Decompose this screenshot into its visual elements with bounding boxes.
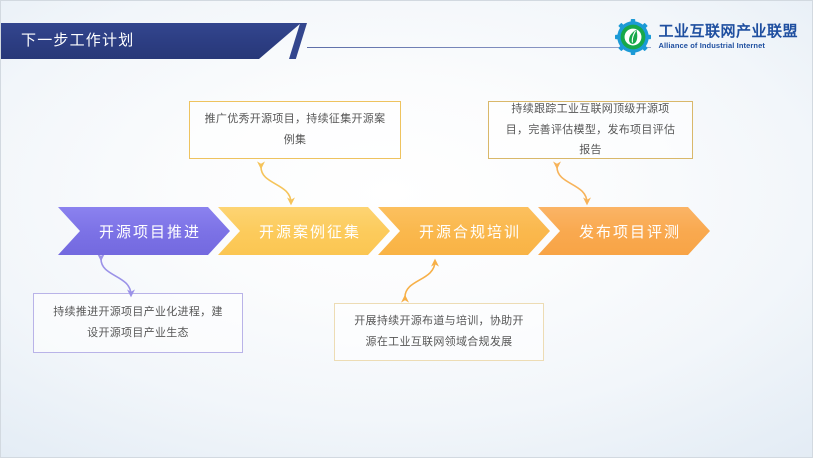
callout-compliance-training: 开展持续开源布道与培训，协助开源在工业互联网领域合规发展 (334, 303, 544, 361)
callout-open-source-cases: 推广优秀开源项目，持续征集开源案例集 (189, 101, 401, 159)
process-step-compliance-training[interactable]: 开源合规培训 (378, 207, 550, 255)
logo-name-en: Alliance of Industrial Internet (658, 42, 798, 50)
title-underline-rule (307, 47, 651, 48)
process-step-project-evaluation[interactable]: 发布项目评测 (538, 207, 710, 255)
callout-project-evaluation: 持续跟踪工业互联网顶级开源项目，完善评估模型，发布项目评估报告 (488, 101, 693, 159)
logo-name-cn: 工业互联网产业联盟 (658, 24, 798, 39)
process-step-case-collection[interactable]: 开源案例征集 (218, 207, 390, 255)
connector-cases-icon (253, 159, 299, 211)
logo-wordmark: 工业互联网产业联盟 Alliance of Industrial Interne… (658, 24, 798, 50)
connector-training-icon (397, 253, 443, 305)
process-step-label: 开源项目推进 (87, 221, 201, 242)
page-title: 下一步工作计划 (21, 23, 134, 59)
callout-industrialization: 持续推进开源项目产业化进程，建设开源项目产业生态 (33, 293, 243, 353)
process-step-label: 开源合规培训 (407, 221, 521, 242)
organization-logo: 工业互联网产业联盟 Alliance of Industrial Interne… (615, 19, 798, 55)
process-step-open-source-promotion[interactable]: 开源项目推进 (58, 207, 230, 255)
gear-leaf-logo-icon (615, 19, 651, 55)
slide-canvas: 下一步工作计划 (0, 0, 813, 458)
process-step-label: 发布项目评测 (567, 221, 681, 242)
process-step-label: 开源案例征集 (247, 221, 361, 242)
slide-title-banner: 下一步工作计划 (1, 23, 301, 59)
connector-industrialization-icon (93, 251, 139, 299)
connector-evaluation-icon (549, 159, 595, 211)
